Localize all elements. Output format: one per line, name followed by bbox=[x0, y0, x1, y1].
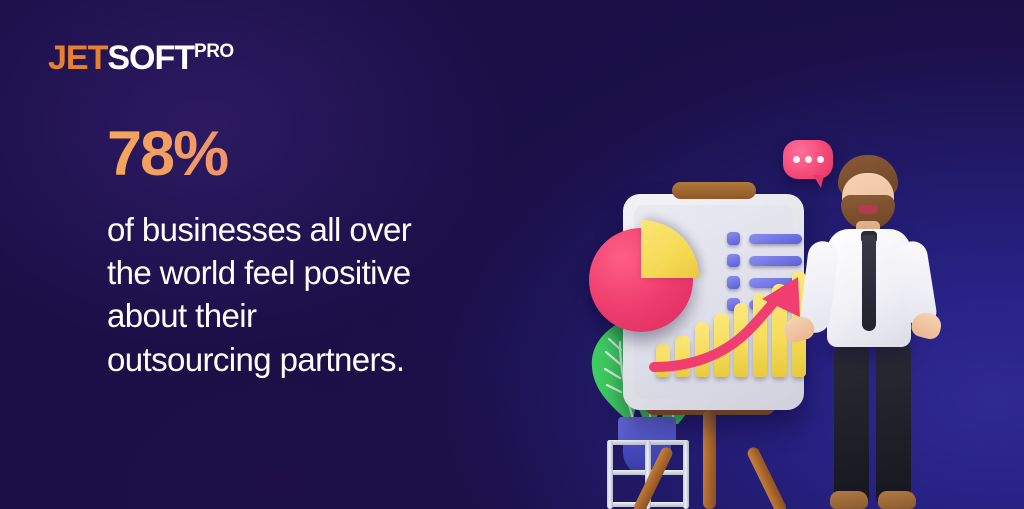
logo-text-jet: JET bbox=[48, 41, 107, 75]
headline-block: 78% of businesses all over the world fee… bbox=[107, 123, 537, 381]
presentation-board[interactable] bbox=[623, 194, 804, 410]
checklist-bar bbox=[749, 234, 802, 244]
statistic-percentage: 78% bbox=[107, 123, 537, 186]
character-tie bbox=[862, 235, 876, 331]
headline-line-1: of businesses all over bbox=[107, 208, 537, 251]
logo-text-soft: SOFT bbox=[107, 41, 194, 75]
checkbox-icon bbox=[727, 232, 740, 245]
pie-chart bbox=[589, 220, 701, 332]
checklist-bar bbox=[749, 256, 802, 266]
checklist-row bbox=[727, 254, 805, 267]
headline-line-2: the world feel positive bbox=[107, 251, 537, 294]
logo-text-pro: PRO bbox=[194, 42, 234, 61]
hero-illustration bbox=[545, 0, 1024, 509]
pie-slice-minority bbox=[641, 220, 699, 278]
checkbox-icon bbox=[727, 254, 740, 267]
headline-line-3: about their bbox=[107, 294, 537, 337]
brand-logo[interactable]: JET SOFT PRO bbox=[48, 41, 234, 75]
board-clip bbox=[672, 182, 756, 199]
presenter-character bbox=[800, 155, 950, 509]
character-mouth bbox=[858, 205, 878, 214]
easel-tripod bbox=[617, 396, 802, 509]
marketing-banner: JET SOFT PRO 78% of businesses all over … bbox=[0, 0, 1024, 509]
headline-line-4: outsourcing partners. bbox=[107, 338, 537, 381]
checklist-row bbox=[727, 232, 805, 245]
headline-body: of businesses all over the world feel po… bbox=[107, 208, 537, 381]
